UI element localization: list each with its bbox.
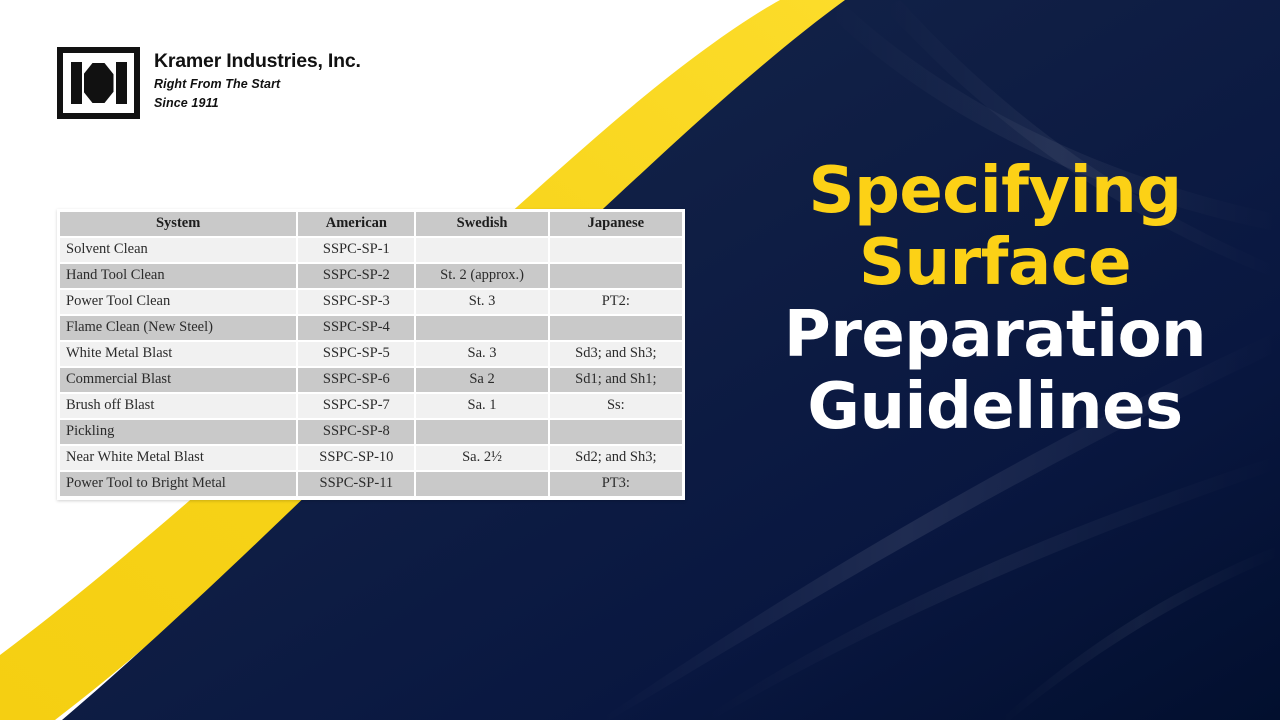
cell-japanese: Sd3; and Sh3; xyxy=(550,342,682,366)
title-line-3: Preparation xyxy=(745,299,1245,371)
cell-american: SSPC-SP-10 xyxy=(298,446,414,470)
table-row: Near White Metal BlastSSPC-SP-10Sa. 2½Sd… xyxy=(60,446,682,470)
slide-canvas: Kramer Industries, Inc. Right From The S… xyxy=(0,0,1280,720)
cell-american: SSPC-SP-5 xyxy=(298,342,414,366)
cell-swedish: Sa. 3 xyxy=(416,342,547,366)
cell-swedish xyxy=(416,420,547,444)
table-body: Solvent CleanSSPC-SP-1Hand Tool CleanSSP… xyxy=(60,238,682,496)
cell-system: Pickling xyxy=(60,420,296,444)
cell-system: White Metal Blast xyxy=(60,342,296,366)
cell-american: SSPC-SP-6 xyxy=(298,368,414,392)
cell-swedish: Sa. 1 xyxy=(416,394,547,418)
cell-japanese xyxy=(550,238,682,262)
column-header-system: System xyxy=(60,212,296,236)
cell-system: Solvent Clean xyxy=(60,238,296,262)
cell-japanese: Sd2; and Sh3; xyxy=(550,446,682,470)
table-row: Commercial BlastSSPC-SP-6Sa 2Sd1; and Sh… xyxy=(60,368,682,392)
table-row: Power Tool CleanSSPC-SP-3St. 3PT2: xyxy=(60,290,682,314)
brand-since: Since 1911 xyxy=(154,95,361,112)
cell-system: Power Tool to Bright Metal xyxy=(60,472,296,496)
table-row: Brush off BlastSSPC-SP-7Sa. 1Ss: xyxy=(60,394,682,418)
cell-american: SSPC-SP-1 xyxy=(298,238,414,262)
table-row: Power Tool to Bright MetalSSPC-SP-11PT3: xyxy=(60,472,682,496)
cell-swedish xyxy=(416,316,547,340)
cell-american: SSPC-SP-2 xyxy=(298,264,414,288)
cell-japanese xyxy=(550,420,682,444)
kramer-k-mark-icon xyxy=(57,47,140,119)
cell-japanese: PT2: xyxy=(550,290,682,314)
cell-swedish xyxy=(416,238,547,262)
cell-system: Near White Metal Blast xyxy=(60,446,296,470)
column-header-swedish: Swedish xyxy=(416,212,547,236)
cell-american: SSPC-SP-11 xyxy=(298,472,414,496)
title-line-1: Specifying xyxy=(745,155,1245,227)
cell-japanese xyxy=(550,316,682,340)
cell-system: Flame Clean (New Steel) xyxy=(60,316,296,340)
table-row: Solvent CleanSSPC-SP-1 xyxy=(60,238,682,262)
surface-prep-standards-table: System American Swedish Japanese Solvent… xyxy=(57,209,685,500)
title-line-4: Guidelines xyxy=(745,371,1245,443)
table-row: PicklingSSPC-SP-8 xyxy=(60,420,682,444)
cell-system: Hand Tool Clean xyxy=(60,264,296,288)
title-line-2: Surface xyxy=(745,227,1245,299)
brand-name: Kramer Industries, Inc. xyxy=(154,51,361,71)
cell-system: Power Tool Clean xyxy=(60,290,296,314)
column-header-japanese: Japanese xyxy=(550,212,682,236)
cell-system: Commercial Blast xyxy=(60,368,296,392)
cell-japanese xyxy=(550,264,682,288)
cell-swedish: Sa 2 xyxy=(416,368,547,392)
cell-swedish: Sa. 2½ xyxy=(416,446,547,470)
cell-swedish: St. 3 xyxy=(416,290,547,314)
brand-logo: Kramer Industries, Inc. Right From The S… xyxy=(57,47,361,119)
cell-japanese: Ss: xyxy=(550,394,682,418)
brand-tagline: Right From The Start xyxy=(154,76,361,93)
cell-american: SSPC-SP-3 xyxy=(298,290,414,314)
table-header-row: System American Swedish Japanese xyxy=(60,212,682,236)
table-row: Flame Clean (New Steel)SSPC-SP-4 xyxy=(60,316,682,340)
cell-american: SSPC-SP-4 xyxy=(298,316,414,340)
cell-american: SSPC-SP-8 xyxy=(298,420,414,444)
cell-japanese: Sd1; and Sh1; xyxy=(550,368,682,392)
cell-american: SSPC-SP-7 xyxy=(298,394,414,418)
cell-system: Brush off Blast xyxy=(60,394,296,418)
column-header-american: American xyxy=(298,212,414,236)
table-row: White Metal BlastSSPC-SP-5Sa. 3Sd3; and … xyxy=(60,342,682,366)
cell-swedish: St. 2 (approx.) xyxy=(416,264,547,288)
cell-japanese: PT3: xyxy=(550,472,682,496)
page-title: Specifying Surface Preparation Guideline… xyxy=(745,155,1245,443)
cell-swedish xyxy=(416,472,547,496)
table-row: Hand Tool CleanSSPC-SP-2St. 2 (approx.) xyxy=(60,264,682,288)
